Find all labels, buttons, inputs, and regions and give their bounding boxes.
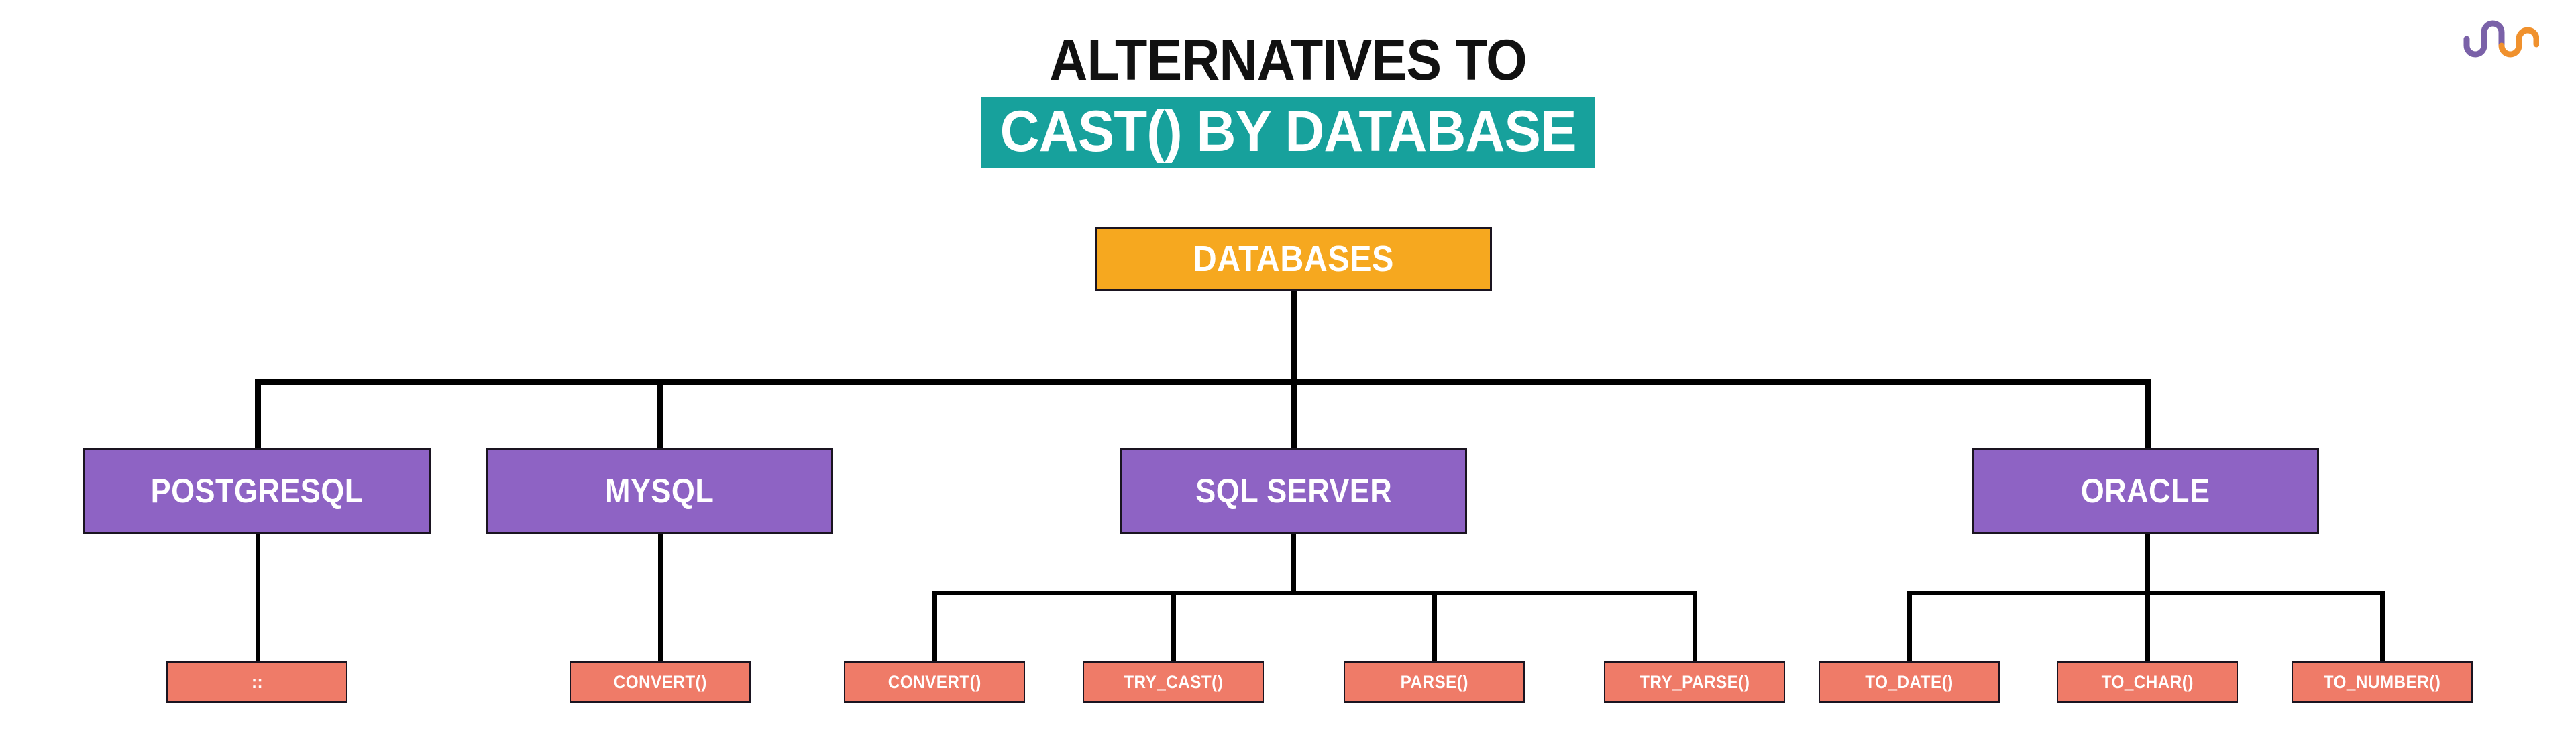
connector-drop-oracle-to-number — [2380, 591, 2385, 661]
connector-drop-sqlserver-try-parse — [1693, 591, 1697, 661]
connector-drop-sqlserver — [1291, 379, 1297, 450]
node-database-postgresql[interactable]: POSTGRESQL — [83, 448, 431, 534]
connector-drop-sqlserver-try-cast — [1171, 591, 1176, 661]
connector-drop-oracle-to-date — [1907, 591, 1912, 661]
node-function-oracle-to-date[interactable]: TO_DATE() — [1819, 661, 2000, 703]
node-function-sqlserver-try-parse[interactable]: TRY_PARSE() — [1604, 661, 1785, 703]
node-databases-root[interactable]: DATABASES — [1095, 227, 1492, 291]
node-label: TO_DATE() — [1865, 672, 1953, 693]
node-label: TO_NUMBER() — [2324, 672, 2441, 693]
node-database-oracle[interactable]: ORACLE — [1972, 448, 2319, 534]
connector-drop-postgresql — [255, 379, 261, 450]
node-function-mysql-convert[interactable]: CONVERT() — [570, 661, 751, 703]
title-line-highlight: CAST() BY DATABASE — [981, 97, 1595, 168]
node-label: TRY_CAST() — [1124, 672, 1223, 693]
connector-mysql-to-convert — [658, 534, 663, 661]
node-label: ORACLE — [2081, 471, 2210, 510]
title-banner: CAST() BY DATABASE — [0, 97, 2576, 168]
node-label: TO_CHAR() — [2101, 672, 2193, 693]
node-label: MYSQL — [605, 471, 714, 510]
connector-drop-mysql — [657, 379, 663, 450]
node-function-oracle-to-char[interactable]: TO_CHAR() — [2057, 661, 2238, 703]
connector-sqlserver-bus — [932, 591, 1697, 595]
node-function-sqlserver-convert[interactable]: CONVERT() — [844, 661, 1025, 703]
node-database-mysql[interactable]: MYSQL — [486, 448, 833, 534]
connector-sqlserver-stem — [1291, 534, 1296, 595]
page-title: ALTERNATIVES TO CAST() BY DATABASE — [0, 31, 2576, 168]
node-function-sqlserver-parse[interactable]: PARSE() — [1344, 661, 1525, 703]
node-label: TRY_PARSE() — [1640, 672, 1750, 693]
connector-level1-bus — [258, 379, 2151, 385]
infographic-canvas: ALTERNATIVES TO CAST() BY DATABASE DATAB… — [0, 0, 2576, 741]
node-label: SQL SERVER — [1195, 471, 1392, 510]
title-line-primary: ALTERNATIVES TO — [103, 31, 2473, 90]
connector-postgresql-to-cast-operator — [256, 534, 260, 661]
connector-root-stem — [1291, 291, 1297, 382]
node-label: PARSE() — [1400, 672, 1468, 693]
node-function-sqlserver-try-cast[interactable]: TRY_CAST() — [1083, 661, 1264, 703]
node-label: CONVERT() — [888, 672, 981, 693]
connector-drop-oracle — [2145, 379, 2151, 450]
node-function-oracle-to-number[interactable]: TO_NUMBER() — [2292, 661, 2473, 703]
connector-drop-sqlserver-convert — [932, 591, 937, 661]
node-function-postgresql-cast-operator[interactable]: :: — [166, 661, 347, 703]
connector-drop-sqlserver-parse — [1432, 591, 1437, 661]
node-label: POSTGRESQL — [150, 471, 363, 510]
connector-oracle-stem — [2145, 534, 2150, 595]
node-label: :: — [251, 672, 262, 693]
connector-drop-oracle-to-char — [2145, 591, 2150, 661]
node-label: DATABASES — [1193, 238, 1393, 280]
node-database-sqlserver[interactable]: SQL SERVER — [1120, 448, 1467, 534]
node-label: CONVERT() — [613, 672, 706, 693]
